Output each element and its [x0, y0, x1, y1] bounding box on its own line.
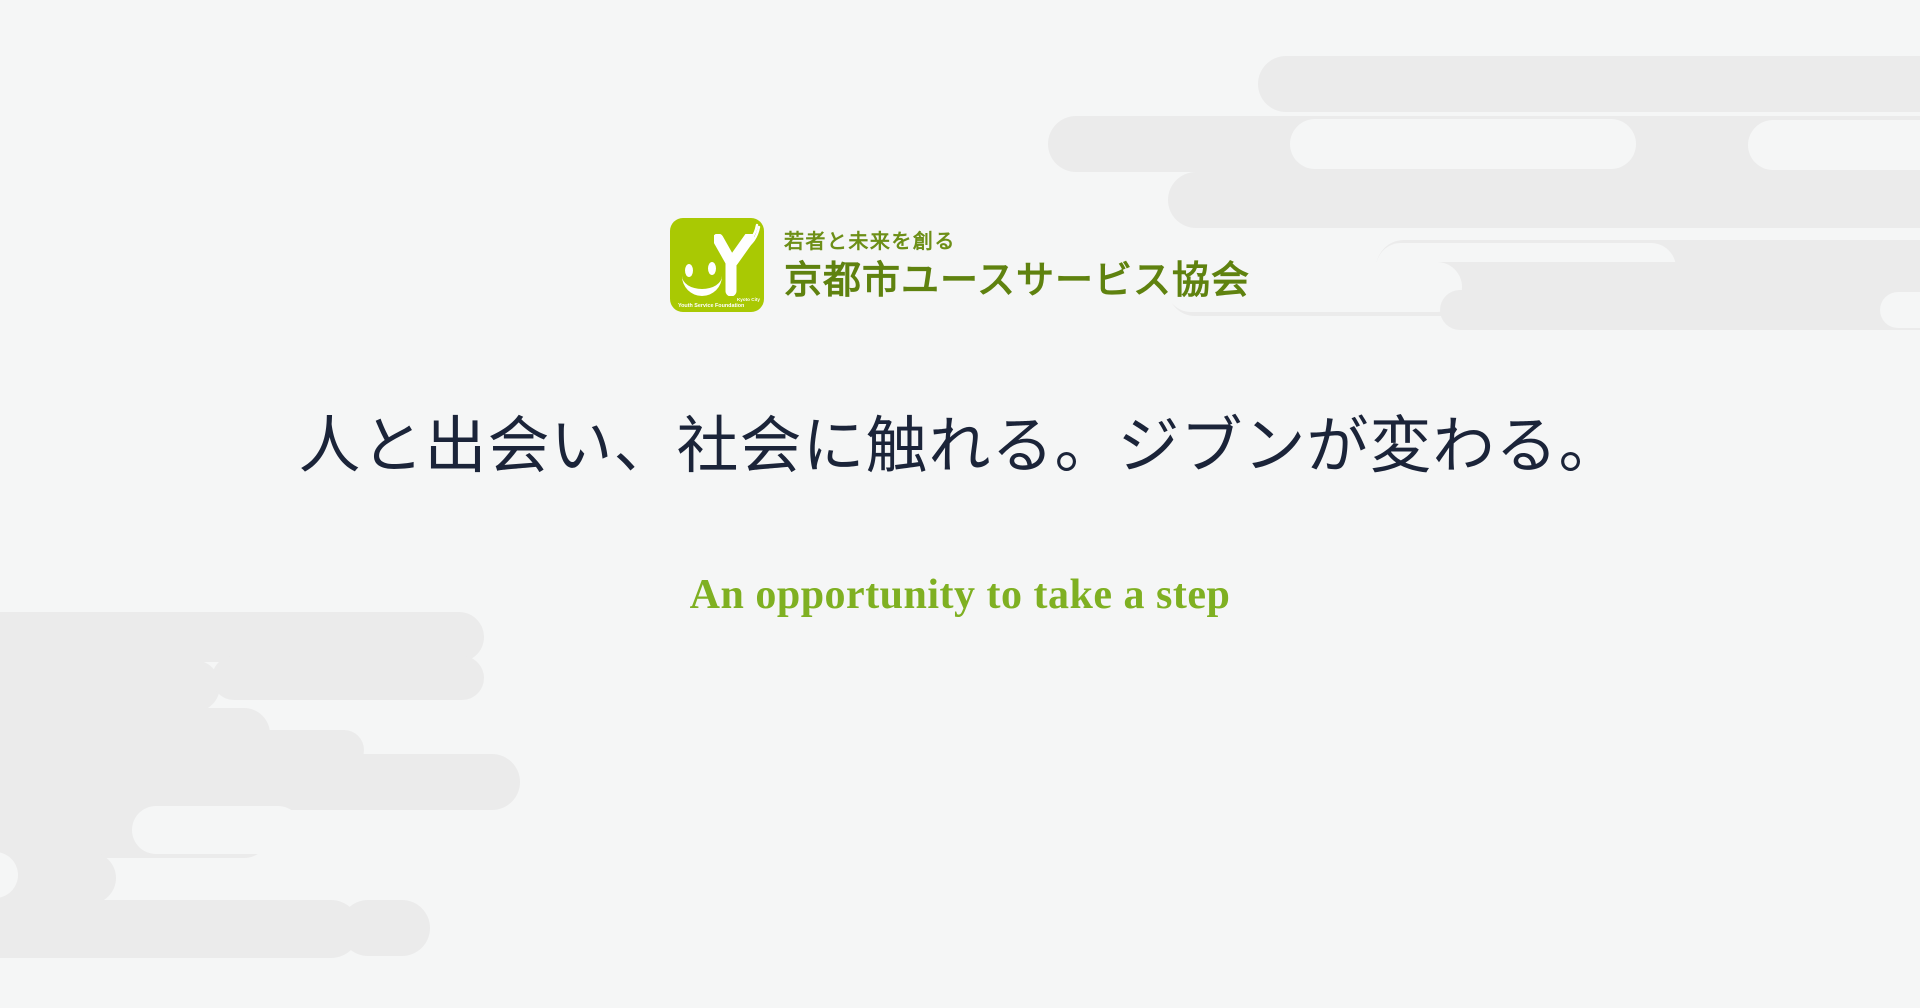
organization-wordmark: 若者と未来を創る 京都市ユースサービス協会 — [784, 230, 1250, 303]
organization-name: 京都市ユースサービス協会 — [784, 259, 1250, 303]
logo-mark-caption-bottom: Youth Service Foundation — [678, 303, 760, 310]
hero-content: Kyoto City Youth Service Foundation 若者と未… — [0, 0, 1920, 1008]
logo-mark-caption: Kyoto City Youth Service Foundation — [678, 297, 760, 309]
hero-page: Kyoto City Youth Service Foundation 若者と未… — [0, 0, 1920, 1008]
organization-tagline: 若者と未来を創る — [784, 230, 1250, 254]
swoosh-icon — [739, 223, 761, 249]
organization-logo[interactable]: Kyoto City Youth Service Foundation 若者と未… — [670, 218, 1250, 312]
page-subtitle: An opportunity to take a step — [690, 570, 1231, 620]
page-title: 人と出会い、社会に触れる。ジブンが変わる。 — [298, 409, 1621, 485]
y-smiley-logo-mark: Kyoto City Youth Service Foundation — [670, 218, 764, 312]
